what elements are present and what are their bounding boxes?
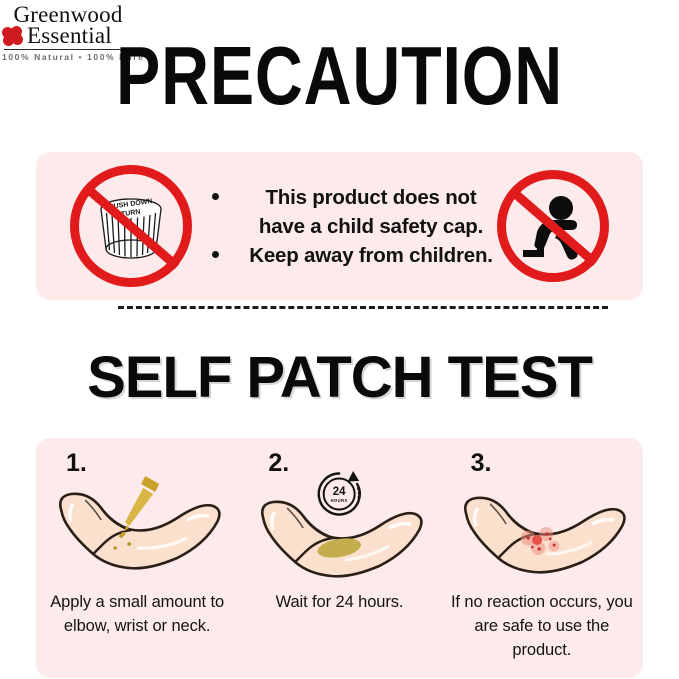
patch-test-step-2: 2. [238,438,440,678]
flower-icon [2,26,24,46]
dropper-icon [121,476,159,536]
precaution-bullet-list: This product does not have a child safet… [192,183,497,270]
arm-with-rash-icon [441,470,643,580]
arm-with-24-hours-clock-icon: 24 HOURS [238,470,440,580]
svg-text:24: 24 [333,486,346,498]
page-title-self-patch-test: SELF PATCH TEST [0,349,679,407]
section-divider [118,306,608,309]
patch-test-step-1: 1. [36,438,238,678]
precaution-panel: PUSH DOWN TURN This product does not hav… [36,152,643,300]
no-children-icon [497,170,609,282]
self-patch-test-panel: 1. [36,438,643,678]
patch-test-step-3: 3. [441,438,643,678]
24-hours-badge-icon: 24 HOURS [319,471,360,514]
precaution-infographic: Greenwood Essential 100% Natural • 100% … [0,0,679,679]
no-child-safety-cap-icon: PUSH DOWN TURN [70,165,192,287]
list-item: Keep away from children. [198,241,497,270]
precaution-bullet-1: This product does not have a child safet… [245,183,497,241]
step-caption: Wait for 24 hours. [246,590,432,614]
step-caption: Apply a small amount to elbow, wrist or … [44,590,230,638]
list-item: This product does not have a child safet… [198,183,497,241]
bullet-dot-icon [212,193,219,200]
svg-text:HOURS: HOURS [331,498,348,503]
page-title-precaution: PRECAUTION [68,34,611,117]
bullet-dot-icon [212,251,219,258]
step-caption: If no reaction occurs, you are safe to u… [449,590,635,662]
precaution-bullet-2: Keep away from children. [245,241,497,270]
arm-with-dropper-icon [36,470,238,580]
